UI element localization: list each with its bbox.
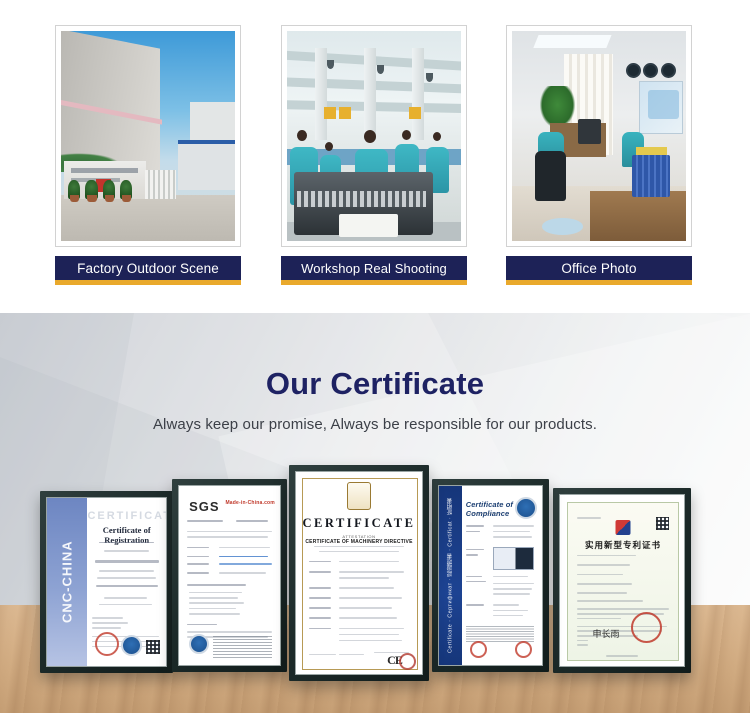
photo-card-factory-outdoor[interactable]: Factory Outdoor Scene [55,25,243,285]
red-stamp [515,641,532,658]
qr-code [146,640,160,654]
wall-sign [409,107,421,120]
paper-sheet [339,214,398,237]
blue-seal [121,635,142,656]
certificate-machinery-directive: CERTIFICATE ATTESTATION CERTIFICATE OF M… [295,471,423,675]
qr-code [656,517,669,530]
right-building [178,140,235,190]
certificate-patent: 实用新型专利证书 申长雨 [559,494,685,667]
caption-underline [55,280,241,285]
pillar [364,48,376,140]
signature: 申长雨 [592,627,619,640]
wall-clock [643,63,658,78]
pillar [315,48,327,140]
red-stamp [470,641,487,658]
official-red-seal [631,612,662,643]
certificate-side-panel: Certificate · Cepтификат · 認證證書 · Certif… [439,486,462,665]
worker-head [402,130,411,140]
certificates-display: CNC-CHINA CERTIFICATE Certificate of Reg… [0,313,750,713]
photo-caption-office: Office Photo [506,256,692,280]
red-stamp [95,632,119,656]
photo-frame [506,25,692,247]
certificate-compliance: Certificate · Cepтификат · 認證證書 · Certif… [438,485,543,666]
machine-roller [297,191,426,208]
certificate-subheading-2: CERTIFICATE OF MACHINERY DIRECTIVE [296,539,422,545]
certificate-frame-patent[interactable]: 实用新型专利证书 申长雨 [553,488,691,673]
office-plant [540,86,575,128]
certificate-frame-registration[interactable]: CNC-CHINA CERTIFICATE Certificate of Reg… [40,491,173,673]
wall-sign-text [71,168,137,173]
certificate-side-text: Certificate · Cepтификат · 認證證書 · Certif… [439,486,462,665]
patent-paper: 实用新型专利证书 申长雨 [567,502,678,661]
wood-desk [590,191,686,241]
photo-frame [55,25,241,247]
certificate-registration: CNC-CHINA CERTIFICATE Certificate of Reg… [46,497,167,667]
footer-text-block [213,636,272,657]
gate [145,170,176,199]
workshop-image [287,31,461,241]
floor-mat [542,218,584,235]
udem-emblem [347,482,371,510]
ecm-seal [515,497,537,519]
wall-clock [661,63,676,78]
flower-pot [70,195,80,202]
certificate-side-panel: CNC-CHINA [47,498,87,666]
factory-outdoor-image [61,31,235,241]
ground [61,195,235,241]
photo-caption-workshop: Workshop Real Shooting [281,256,467,280]
flower-pot [87,195,97,202]
wall-sign [324,107,336,120]
made-in-china-logo: Made-in-China.com [225,500,275,506]
red-stamp [399,653,416,670]
certificate-frame-sgs[interactable]: SGS Made-in-China.com [172,479,287,672]
sgs-seal [189,634,209,654]
page-root: Factory Outdoor Scene [0,0,750,713]
office-image [512,31,686,241]
wall-sign [339,107,351,120]
caption-underline [281,280,467,285]
photo-frame [281,25,467,247]
certificate-watermark: CERTIFICATE [87,510,166,522]
caption-underline [506,280,692,285]
factory-photos-section: Factory Outdoor Scene [0,0,750,313]
ecm-mark-box [493,547,534,570]
ceiling-light [534,35,612,48]
computer-monitor [578,119,601,144]
photo-caption-factory-outdoor: Factory Outdoor Scene [55,256,241,280]
photo-card-workshop[interactable]: Workshop Real Shooting [281,25,469,285]
cnipa-logo [615,520,630,535]
certificate-side-text: CNC-CHINA [47,498,87,666]
map-ocean [648,90,679,119]
worker-head [364,130,376,143]
certificate-heading: CERTIFICATE [296,516,422,531]
office-chair [535,151,566,201]
photo-row: Factory Outdoor Scene [0,0,750,313]
our-certificate-section: Our Certificate Always keep our promise,… [0,313,750,713]
sgs-logo: SGS [189,499,219,514]
certificate-frame-compliance[interactable]: Certificate · Cepтификат · 認證證書 · Certif… [432,479,549,672]
certificate-heading: 实用新型专利证书 [568,539,677,551]
certificate-frame-machinery-directive[interactable]: CERTIFICATE ATTESTATION CERTIFICATE OF M… [289,465,429,681]
wall-clock [626,63,641,78]
disclaimer-text [466,626,534,642]
storage-crate [632,155,670,197]
worker-head [433,132,441,141]
photo-card-office[interactable]: Office Photo [506,25,694,285]
pillar [412,48,424,140]
flower-pot [105,195,115,202]
certificate-sgs: SGS Made-in-China.com [178,485,281,666]
flower-pot [122,195,132,202]
